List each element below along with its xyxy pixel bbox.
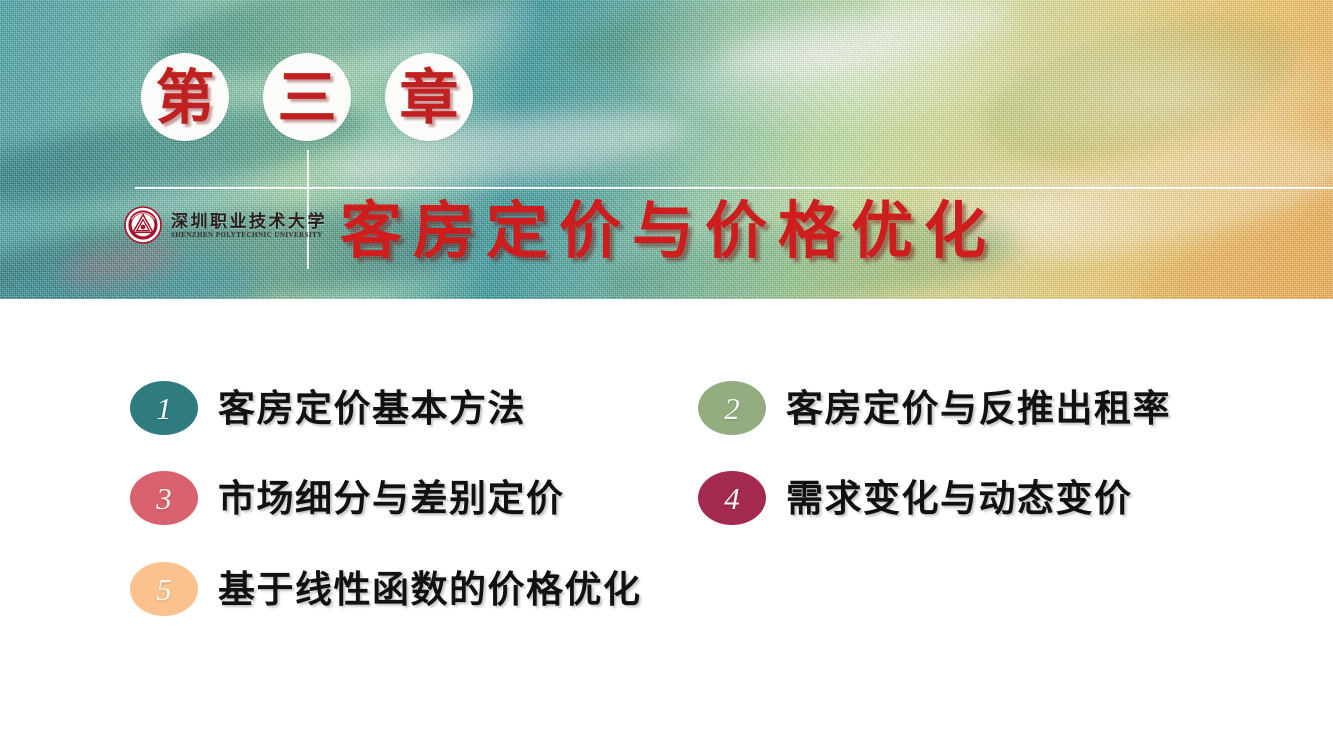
university-name-en: SHENZHEN POLYTECHNIC UNIVERSITY (171, 232, 327, 239)
slide-canvas: 第 三 章 (0, 0, 1333, 750)
agenda-number-badge: 1 (130, 381, 198, 435)
list-item[interactable]: 5 基于线性函数的价格优化 (130, 562, 642, 616)
university-seal-icon (124, 206, 162, 244)
chapter-char: 第 (155, 68, 214, 127)
chapter-char-circle: 章 (385, 53, 473, 141)
agenda-item-label: 市场细分与差别定价 (218, 480, 565, 517)
horizontal-divider (135, 187, 1333, 189)
university-logo-text: 深圳职业技术大学 SHENZHEN POLYTECHNIC UNIVERSITY (171, 212, 327, 239)
list-item[interactable]: 3 市场细分与差别定价 (130, 471, 565, 525)
agenda-number-badge: 3 (130, 471, 198, 525)
agenda-number: 5 (156, 574, 172, 605)
page-title: 客房定价与价格优化 (340, 198, 997, 263)
agenda-number-badge: 2 (698, 381, 766, 435)
agenda-number: 1 (156, 393, 172, 424)
agenda-number-badge: 5 (130, 562, 198, 616)
university-logo: 深圳职业技术大学 SHENZHEN POLYTECHNIC UNIVERSITY (124, 206, 327, 244)
chapter-char: 章 (399, 68, 458, 127)
agenda-list: 1 客房定价基本方法 2 客房定价与反推出租率 3 市场细分与差别定价 4 需求… (0, 299, 1333, 750)
list-item[interactable]: 4 需求变化与动态变价 (698, 471, 1133, 525)
title-banner: 第 三 章 (0, 0, 1333, 299)
list-item[interactable]: 1 客房定价基本方法 (130, 381, 526, 435)
agenda-number: 2 (724, 393, 740, 424)
agenda-item-label: 客房定价基本方法 (218, 390, 526, 427)
agenda-item-label: 需求变化与动态变价 (786, 480, 1133, 517)
agenda-number: 4 (724, 483, 740, 514)
agenda-item-label: 基于线性函数的价格优化 (218, 571, 642, 608)
agenda-item-label: 客房定价与反推出租率 (786, 390, 1171, 427)
agenda-number-badge: 4 (698, 471, 766, 525)
agenda-number: 3 (156, 483, 172, 514)
chapter-badge-group: 第 三 章 (141, 53, 472, 141)
chapter-char-circle: 第 (141, 53, 229, 141)
university-name-cn: 深圳职业技术大学 (171, 214, 327, 231)
chapter-char: 三 (277, 68, 336, 127)
list-item[interactable]: 2 客房定价与反推出租率 (698, 381, 1171, 435)
chapter-char-circle: 三 (263, 53, 351, 141)
